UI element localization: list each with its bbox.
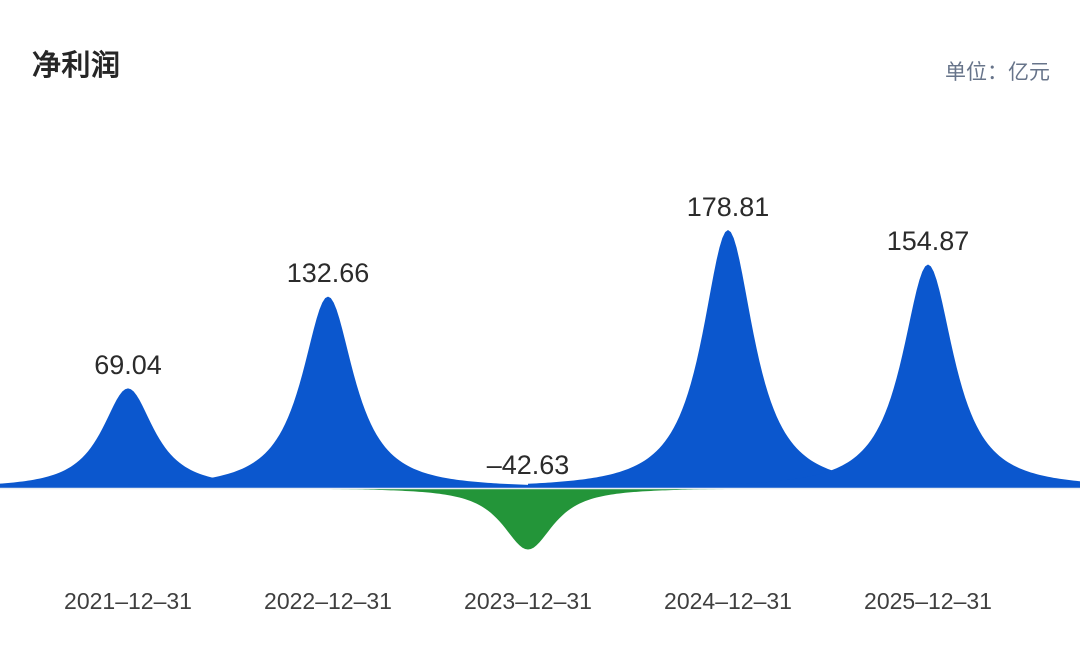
area-lobe [128, 297, 528, 488]
data-point-value-label: 132.66 [287, 258, 370, 288]
x-axis-tick-label: 2024–12–31 [664, 588, 792, 614]
value-labels-group: 69.04132.66–42.63178.81154.87 [94, 192, 969, 480]
x-axis-tick-labels-group: 2021–12–312022–12–312023–12–312024–12–31… [64, 588, 992, 614]
data-point-value-label: 69.04 [94, 350, 162, 380]
net-profit-chart-card: 净利润 单位：亿元 69.04132.66–42.63178.81154.87 … [0, 0, 1080, 655]
x-axis-tick-label: 2025–12–31 [864, 588, 992, 614]
net-profit-area-svg: 69.04132.66–42.63178.81154.87 2021–12–31… [0, 0, 1080, 655]
area-lobe [328, 488, 728, 550]
data-point-value-label: –42.63 [487, 450, 570, 480]
x-axis-tick-label: 2022–12–31 [264, 588, 392, 614]
x-axis-tick-label: 2023–12–31 [464, 588, 592, 614]
x-axis-tick-label: 2021–12–31 [64, 588, 192, 614]
data-point-value-label: 178.81 [687, 192, 770, 222]
series-shapes [0, 230, 1080, 550]
chart-plot-area: 69.04132.66–42.63178.81154.87 2021–12–31… [0, 0, 1080, 655]
data-point-value-label: 154.87 [887, 226, 970, 256]
